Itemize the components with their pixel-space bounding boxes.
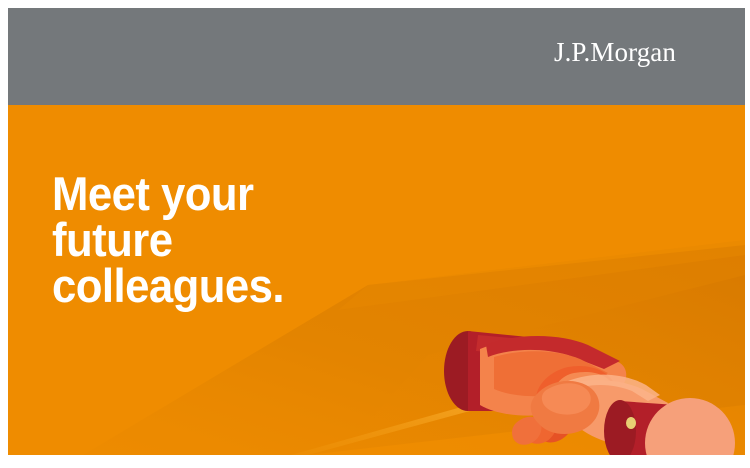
jpmorgan-recruiting-banner: J.P.Morgan <box>8 8 745 455</box>
header-band: J.P.Morgan <box>8 8 745 105</box>
left-hand-fingers <box>512 412 573 445</box>
hero-stage: Meet your future colleagues. <box>8 105 745 455</box>
cufflink <box>626 417 636 429</box>
left-arm <box>444 331 626 445</box>
right-arm <box>531 375 735 455</box>
light-streak <box>291 377 580 455</box>
page-title: Meet your future colleagues. <box>52 171 284 309</box>
jpmorgan-logo: J.P.Morgan <box>554 39 676 66</box>
